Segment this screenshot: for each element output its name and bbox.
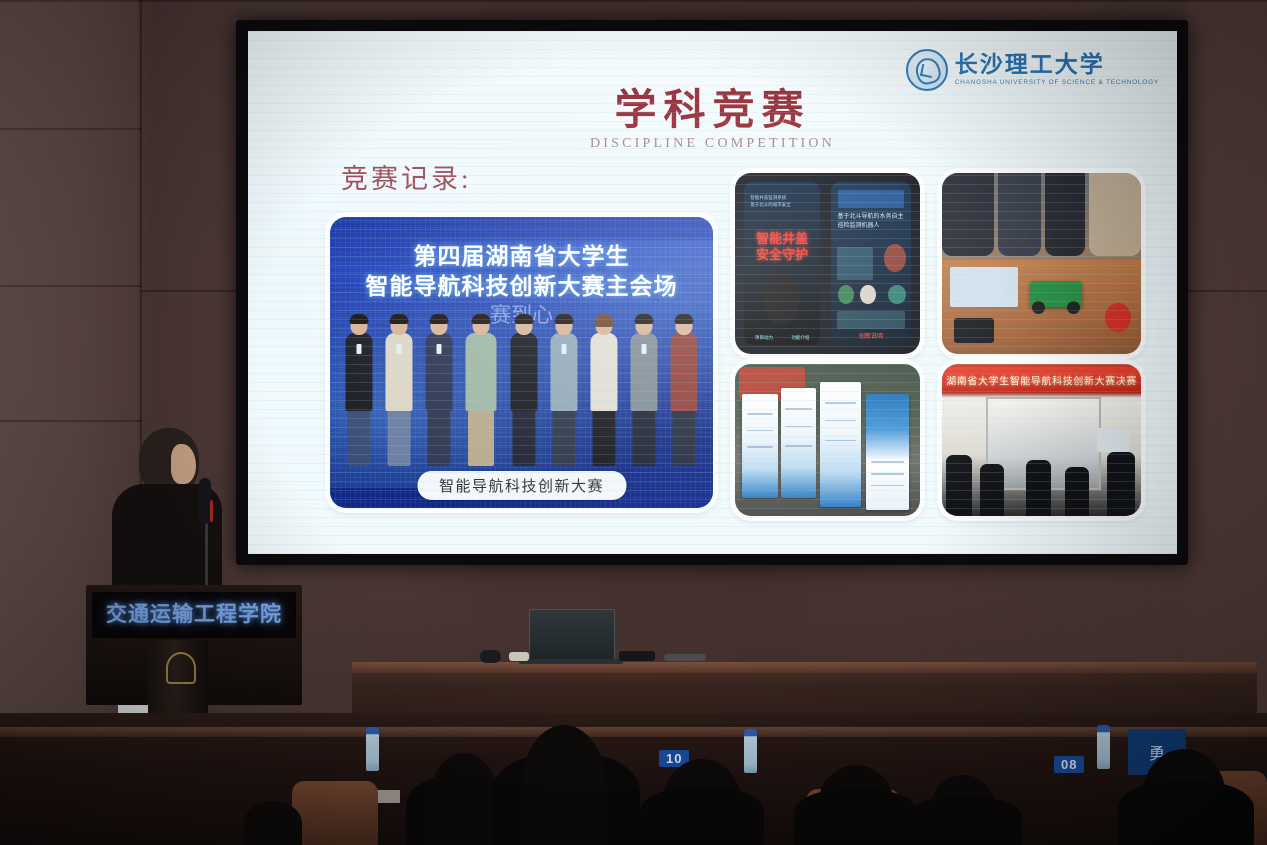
audience-desk-edge xyxy=(0,727,1267,737)
computer-mouse xyxy=(480,650,501,663)
table-equipment xyxy=(950,267,1018,307)
presenter-laptop-base xyxy=(519,659,623,664)
poster-header-text: 智能井盖监测系统基于北斗的城市安全 xyxy=(750,195,814,209)
water-bottle xyxy=(366,727,379,771)
presenter-face xyxy=(171,444,196,484)
student-figure xyxy=(424,314,454,466)
poster-left: 智能井盖监测系统基于北斗的城市安全 智能井盖安全守护 项目动力 功能介绍 xyxy=(744,182,820,345)
robot-car-demo-photo xyxy=(942,173,1141,354)
desk-paper xyxy=(509,652,529,661)
desk-item xyxy=(664,654,706,661)
student-figure xyxy=(669,314,699,466)
projection-screen: 长沙理工大学 CHANGSHA UNIVERSITY OF SCIENCE & … xyxy=(248,31,1177,554)
poster-right: 基于北斗导航的水务自主巡检监测机器人 创新说明 xyxy=(831,182,911,345)
auditorium-seat xyxy=(292,781,378,845)
person-silhouette xyxy=(1045,173,1085,256)
person-silhouette xyxy=(998,173,1042,256)
slide-subtitle: DISCIPLINE COMPETITION xyxy=(248,136,1177,152)
robot-car xyxy=(1030,281,1082,307)
student-figure xyxy=(384,314,414,466)
water-bottle xyxy=(744,729,757,773)
person-silhouette xyxy=(1107,452,1135,516)
person-silhouette xyxy=(1089,173,1141,256)
poster-text-block xyxy=(837,311,905,329)
poster-footer-right: 功能介绍 xyxy=(785,335,815,342)
student-figure xyxy=(344,314,374,466)
water-bottle xyxy=(1097,725,1110,769)
poster-display-photo: 智能井盖监测系统基于北斗的城市安全 智能井盖安全守护 项目动力 功能介绍 基于北… xyxy=(735,173,920,354)
student-figure xyxy=(464,314,498,466)
ceremony-red-banner: 湖南省大学生智能导航科技创新大赛决赛 xyxy=(942,367,1141,393)
desk-cable xyxy=(619,651,655,661)
poster-text-block xyxy=(837,247,874,280)
audience-head xyxy=(244,801,302,845)
main-group-photo: 赛到心 第四届湖南省大学生 智能导航科技创新大赛主会场 智能导航科技创新大赛 xyxy=(330,217,713,508)
conference-hall-scene: 长沙理工大学 CHANGSHA UNIVERSITY OF SCIENCE & … xyxy=(0,0,1267,845)
audience-head xyxy=(430,753,498,845)
student-figure xyxy=(589,314,619,466)
rollup-banner xyxy=(820,382,861,507)
student-figure xyxy=(549,314,579,466)
poster-image-circle xyxy=(860,285,876,305)
audience-shoulders xyxy=(794,789,918,845)
rollup-banner xyxy=(866,394,909,510)
photo-banner-line1: 第四届湖南省大学生 xyxy=(330,237,713,271)
student-figure xyxy=(509,314,539,466)
student-figure xyxy=(629,314,659,466)
person-silhouette xyxy=(946,455,972,516)
audience-shoulders xyxy=(906,797,1022,845)
poster-title-band xyxy=(838,190,905,208)
rollup-banner xyxy=(742,394,777,497)
photo-banner-line2: 智能导航科技创新大赛主会场 xyxy=(330,267,713,301)
logo-chinese-name: 长沙理工大学 xyxy=(955,53,1159,77)
person-silhouette xyxy=(980,464,1004,516)
wall-poster xyxy=(1097,428,1129,452)
presenter-laptop xyxy=(529,609,615,664)
exhibition-rollup-banners-photo xyxy=(735,364,920,516)
poster-image-circle xyxy=(884,244,906,272)
audience-shoulders xyxy=(1118,781,1254,845)
presentation-slide: 长沙理工大学 CHANGSHA UNIVERSITY OF SCIENCE & … xyxy=(248,31,1177,554)
student-group xyxy=(336,314,707,466)
rollup-banner xyxy=(781,388,816,497)
person-silhouette xyxy=(942,173,994,256)
audience-shoulders xyxy=(640,787,764,845)
lectern-emblem-icon xyxy=(166,652,196,684)
slide-section-label: 竞赛记录: xyxy=(341,157,472,196)
audience-head xyxy=(522,725,606,845)
wall-seam xyxy=(142,290,237,292)
poster-photo-circle xyxy=(762,270,800,325)
person-silhouette xyxy=(1065,467,1089,516)
table-equipment xyxy=(954,318,994,343)
award-ceremony-banner-photo: 湖南省大学生智能导航科技创新大赛决赛 xyxy=(942,364,1141,516)
stage-desk-edge xyxy=(352,662,1257,673)
poster-headline: 智能井盖安全守护 xyxy=(749,231,816,264)
poster-image-circle xyxy=(888,285,906,305)
poster-body-headline: 基于北斗导航的水务自主巡检监测机器人 xyxy=(838,213,905,232)
person-silhouette xyxy=(1026,460,1052,516)
photo-caption: 智能导航科技创新大赛 xyxy=(417,471,626,500)
seat-number: 08 xyxy=(1054,756,1084,773)
poster-footer: 创新说明 xyxy=(831,333,911,342)
poster-footer-left: 项目动力 xyxy=(749,335,779,342)
ceremony-banner-text: 湖南省大学生智能导航科技创新大赛决赛 xyxy=(942,372,1141,387)
lectern-name-plate-text: 交通运输工程学院 xyxy=(92,598,296,628)
microphone-indicator xyxy=(210,500,213,522)
slide-title: 学科竞赛 xyxy=(248,76,1177,137)
poster-image-circle xyxy=(838,285,854,305)
wall-seam xyxy=(0,0,1267,2)
